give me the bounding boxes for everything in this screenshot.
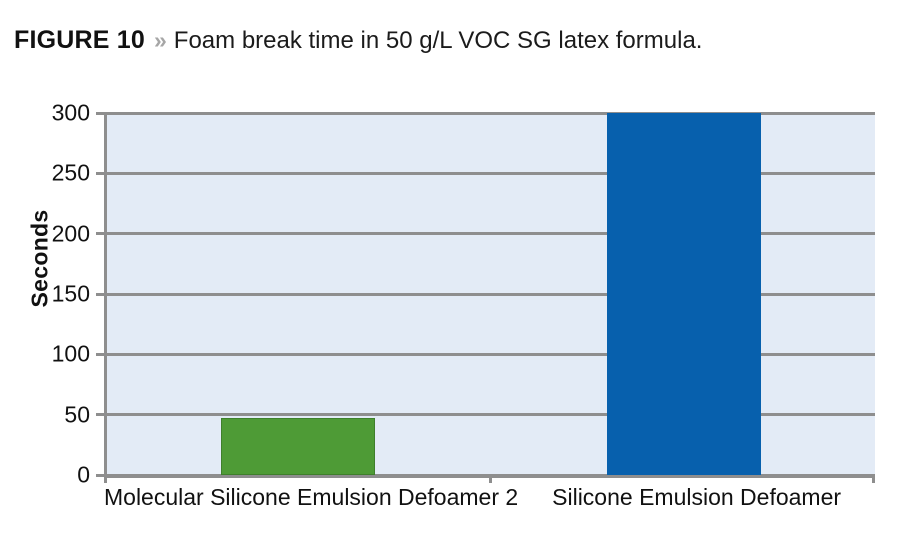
plot-area bbox=[104, 113, 875, 475]
figure-caption: FIGURE 10 » Foam break time in 50 g/L VO… bbox=[14, 26, 894, 60]
x-axis-category-label: Silicone Emulsion Defoamer bbox=[518, 484, 875, 524]
y-axis-tick bbox=[96, 353, 104, 356]
y-axis-tick bbox=[96, 172, 104, 175]
y-axis-tick-label: 150 bbox=[20, 281, 90, 308]
y-axis-tick-label: 0 bbox=[20, 462, 90, 489]
y-axis-tick-label: 300 bbox=[20, 100, 90, 127]
figure-container: FIGURE 10 » Foam break time in 50 g/L VO… bbox=[0, 0, 900, 550]
y-axis-tick bbox=[96, 232, 104, 235]
x-axis-category-label: Molecular Silicone Emulsion Defoamer 2 bbox=[104, 484, 518, 524]
y-axis-tick bbox=[96, 293, 104, 296]
y-axis-tick bbox=[96, 413, 104, 416]
y-axis-tick-labels: 050100150200250300 bbox=[14, 113, 90, 475]
y-axis-tick bbox=[96, 474, 104, 477]
x-axis-tick-middle bbox=[489, 475, 492, 483]
x-axis-tick-end bbox=[872, 475, 875, 483]
y-axis-tick bbox=[96, 112, 104, 115]
chevron-double-right-icon: » bbox=[154, 27, 167, 54]
figure-number-label: FIGURE 10 bbox=[14, 26, 145, 55]
y-axis-tick-label: 200 bbox=[20, 220, 90, 247]
y-axis-tick-label: 250 bbox=[20, 160, 90, 187]
bar-1 bbox=[221, 418, 375, 475]
figure-caption-text: Foam break time in 50 g/L VOC SG latex f… bbox=[174, 27, 703, 55]
y-axis-tick-label: 50 bbox=[20, 401, 90, 428]
bar-chart: Seconds 050100150200250300 Molecular Sil… bbox=[0, 70, 900, 550]
bar-2 bbox=[607, 113, 761, 475]
x-axis-category-labels: Molecular Silicone Emulsion Defoamer 2Si… bbox=[104, 484, 875, 524]
y-axis-tick-label: 100 bbox=[20, 341, 90, 368]
x-axis-tick-start bbox=[104, 475, 107, 483]
